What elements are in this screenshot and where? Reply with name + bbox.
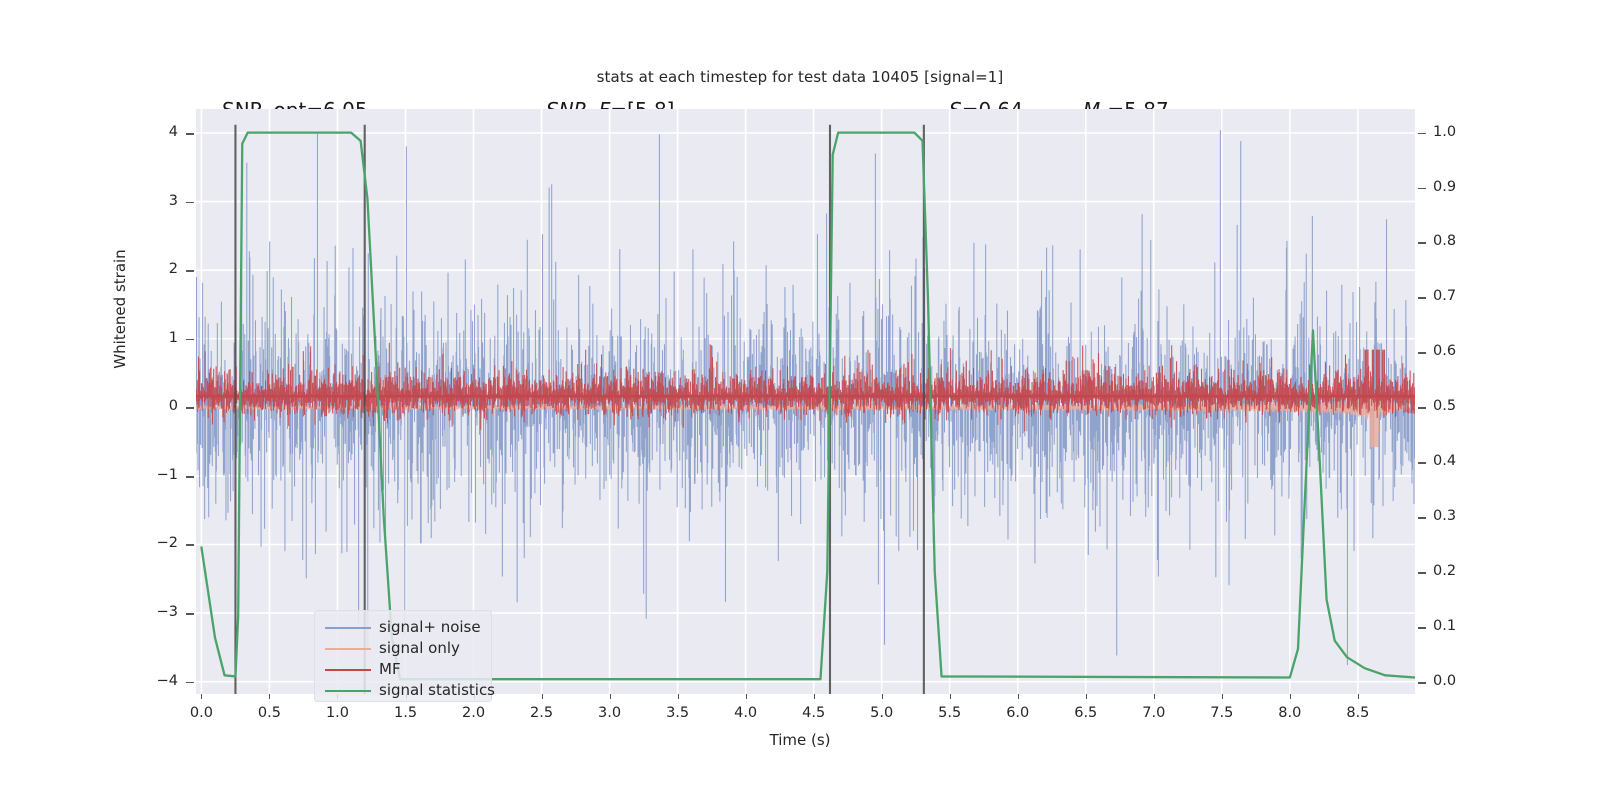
legend-swatch-signal-only [325,648,371,650]
x-tick-mark [201,694,202,699]
y-left-tick-label: −4 [134,674,178,689]
x-tick-label: 4.5 [784,706,844,721]
y-right-tick-label: 0.4 [1433,454,1485,469]
legend[interactable]: signal+ noise signal only MF signal stat… [314,610,492,702]
y-left-tick-label: 1 [134,331,178,346]
y-right-tick-mark [1418,133,1426,135]
x-tick-mark [814,694,815,699]
y-right-tick-mark [1418,242,1426,244]
legend-swatch-mf [325,669,371,671]
y-left-tick-label: 3 [134,194,178,209]
x-tick-mark [542,694,543,699]
x-tick-mark [269,694,270,699]
y-left-tick-label: 4 [134,125,178,140]
y-left-tick-label: 2 [134,262,178,277]
y-right-tick-label: 0.6 [1433,344,1485,359]
y-left-tick-mark [186,133,194,135]
y-left-tick-mark [186,270,194,272]
legend-label-signal-statistics: signal statistics [379,681,495,699]
y-right-tick-label: 0.1 [1433,619,1485,634]
y-left-tick-mark [186,339,194,341]
y-right-tick-label: 0.0 [1433,674,1485,689]
legend-swatch-signal-noise [325,627,371,629]
x-tick-label: 4.0 [716,706,776,721]
y-right-tick-label: 1.0 [1433,125,1485,140]
y-left-tick-mark [186,476,194,478]
x-tick-mark [882,694,883,699]
legend-label-signal-noise: signal+ noise [379,618,481,636]
legend-item-signal-statistics: signal statistics [315,680,491,701]
x-tick-label: 7.5 [1192,706,1252,721]
plot-area [196,109,1415,694]
legend-label-signal-only: signal only [379,639,460,657]
y-right-tick-mark [1418,627,1426,629]
y-left-tick-label: −1 [134,468,178,483]
y-right-tick-mark [1418,682,1426,684]
x-tick-mark [1290,694,1291,699]
x-tick-label: 1.0 [307,706,367,721]
y-right-tick-label: 0.2 [1433,564,1485,579]
x-tick-mark [1222,694,1223,699]
x-tick-label: 1.5 [376,706,436,721]
x-tick-label: 7.0 [1124,706,1184,721]
legend-swatch-signal-statistics [325,690,371,692]
x-tick-mark [1086,694,1087,699]
x-tick-label: 0.0 [171,706,231,721]
y-left-tick-mark [186,613,194,615]
legend-item-signal-only: signal only [315,638,491,659]
y-left-tick-mark [186,544,194,546]
y-right-tick-mark [1418,572,1426,574]
y-right-tick-label: 0.5 [1433,399,1485,414]
y-right-tick-mark [1418,462,1426,464]
y-right-tick-mark [1418,407,1426,409]
x-tick-mark [610,694,611,699]
x-tick-label: 3.0 [580,706,640,721]
x-tick-label: 6.5 [1056,706,1116,721]
figure-canvas: stats at each timestep for test data 104… [0,0,1600,800]
y-right-tick-mark [1418,517,1426,519]
y-left-tick-label: 0 [134,399,178,414]
y-right-tick-mark [1418,352,1426,354]
x-tick-mark [746,694,747,699]
y-left-tick-mark [186,202,194,204]
plot-canvas [196,109,1415,694]
legend-item-signal-noise: signal+ noise [315,617,491,638]
chart-title: stats at each timestep for test data 104… [0,68,1600,86]
x-tick-label: 8.0 [1260,706,1320,721]
x-tick-label: 0.5 [239,706,299,721]
y-right-tick-label: 0.9 [1433,180,1485,195]
y-left-tick-label: −3 [134,605,178,620]
x-tick-label: 8.5 [1328,706,1388,721]
x-tick-mark [678,694,679,699]
y-left-tick-label: −2 [134,536,178,551]
y-axis-left-title: Whitened strain [111,159,129,459]
x-tick-label: 5.5 [920,706,980,721]
y-right-tick-label: 0.7 [1433,289,1485,304]
legend-label-mf: MF [379,660,401,678]
x-tick-label: 2.0 [444,706,504,721]
x-tick-label: 6.0 [988,706,1048,721]
x-axis-title: Time (s) [0,731,1600,749]
y-right-tick-mark [1418,297,1426,299]
x-tick-label: 3.5 [648,706,708,721]
legend-item-mf: MF [315,659,491,680]
x-tick-mark [1018,694,1019,699]
x-tick-mark [1358,694,1359,699]
y-left-tick-mark [186,682,194,684]
y-left-tick-mark [186,407,194,409]
y-right-tick-mark [1418,188,1426,190]
x-tick-mark [1154,694,1155,699]
x-tick-label: 2.5 [512,706,572,721]
y-right-tick-label: 0.3 [1433,509,1485,524]
x-tick-mark [950,694,951,699]
x-tick-label: 5.0 [852,706,912,721]
y-right-tick-label: 0.8 [1433,234,1485,249]
